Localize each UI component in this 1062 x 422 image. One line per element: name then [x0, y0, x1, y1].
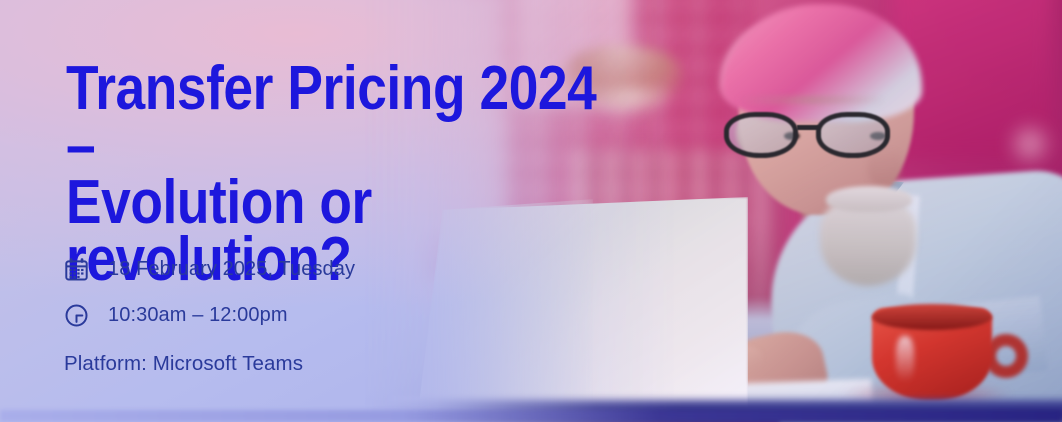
banner-content: Transfer Pricing 2024 – Evolution or rev… [64, 0, 684, 422]
event-details: 18 February 2025, Tuesday 10:30am – 12:0… [64, 246, 355, 376]
event-date-row: 18 February 2025, Tuesday [64, 246, 355, 292]
webinar-banner: Transfer Pricing 2024 – Evolution or rev… [0, 0, 1062, 422]
clock-icon [64, 303, 108, 328]
event-time-row: 10:30am – 12:00pm [64, 292, 355, 338]
calendar-icon [64, 257, 108, 282]
event-platform-text: Platform: Microsoft Teams [64, 352, 355, 376]
event-time-text: 10:30am – 12:00pm [108, 304, 288, 327]
event-date-text: 18 February 2025, Tuesday [108, 258, 355, 281]
